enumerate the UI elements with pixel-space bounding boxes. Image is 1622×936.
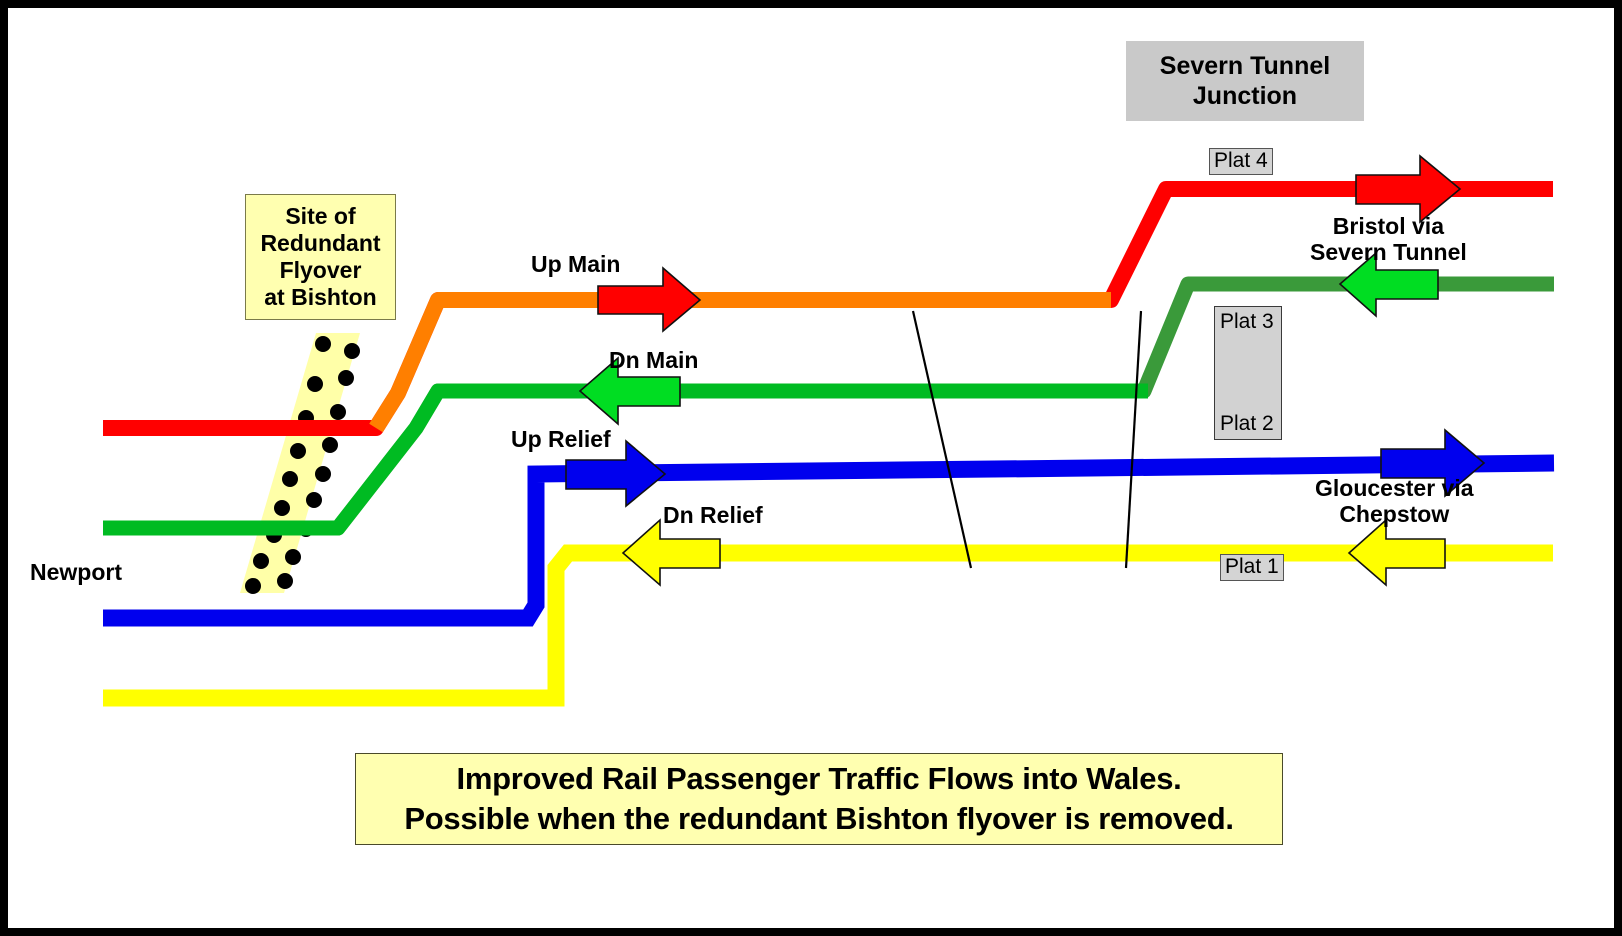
up-relief-label: Up Relief bbox=[511, 427, 611, 453]
arrow-dn-relief bbox=[623, 520, 720, 585]
severn-tunnel-junction-box: Severn Tunnel Junction bbox=[1126, 41, 1364, 121]
plat-3-label: Plat 3 bbox=[1220, 310, 1274, 334]
site-of-redundant-flyover-box: Site of Redundant Flyover at Bishton bbox=[245, 194, 396, 320]
up-main-label: Up Main bbox=[531, 252, 620, 278]
dn-main-label: Dn Main bbox=[609, 348, 698, 374]
bristol-via-severn-tunnel-label: Bristol via Severn Tunnel bbox=[1310, 214, 1467, 266]
diagram-canvas: Severn Tunnel Junction Site of Redundant… bbox=[8, 8, 1614, 928]
plat-1-label: Plat 1 bbox=[1220, 554, 1284, 581]
caption-box: Improved Rail Passenger Traffic Flows in… bbox=[355, 753, 1283, 845]
plat-4-label: Plat 4 bbox=[1209, 148, 1273, 175]
diagram-root: Severn Tunnel Junction Site of Redundant… bbox=[0, 0, 1622, 936]
caption-line-1: Improved Rail Passenger Traffic Flows in… bbox=[457, 759, 1182, 799]
caption-line-2: Possible when the redundant Bishton flyo… bbox=[404, 799, 1233, 839]
newport-label: Newport bbox=[30, 560, 122, 586]
flyover-site-band bbox=[240, 333, 360, 594]
arrow-chepstow-return bbox=[1349, 520, 1445, 585]
dn-relief-label: Dn Relief bbox=[663, 503, 763, 529]
plat-2-label: Plat 2 bbox=[1220, 412, 1274, 436]
gloucester-via-chepstow-label: Gloucester via Chepstow bbox=[1315, 476, 1474, 528]
crossover-lines bbox=[913, 311, 1141, 568]
